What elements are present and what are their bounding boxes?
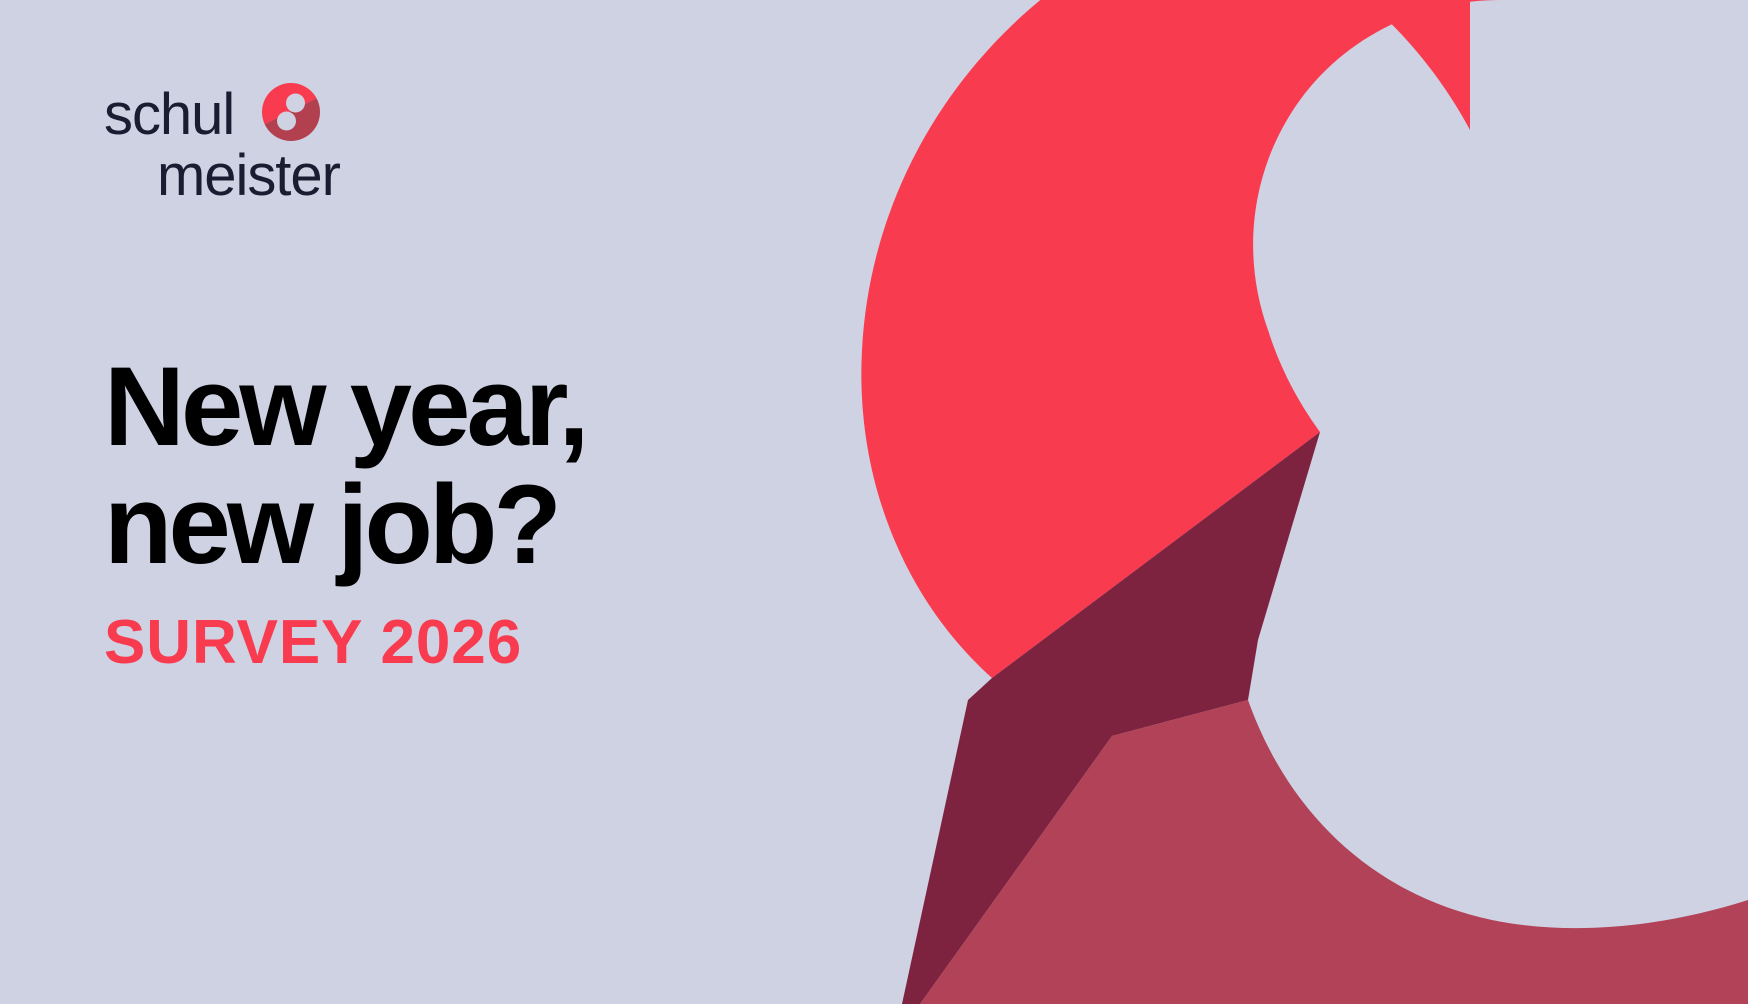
schulmeister-infinity-mark-icon (261, 82, 321, 142)
brand-mark-lower-arc (920, 700, 1748, 1004)
hero-headline-line-1: New year, (104, 348, 864, 466)
brand-mark-middle-band (902, 432, 1320, 1004)
hero-text-block: New year, new job? SURVEY 2026 (104, 348, 864, 676)
slide-canvas: schul meister (0, 0, 1748, 1004)
brand-mark-upper-arc-group (861, 0, 1748, 678)
brand-wordmark: schul meister (104, 86, 384, 206)
brand-wordmark-line-1: schul (104, 86, 384, 144)
brand-logo[interactable]: schul meister (104, 86, 384, 206)
hero-headline-line-2: new job? (104, 466, 864, 584)
hero-subtitle: SURVEY 2026 (104, 610, 864, 676)
brand-mark-upper-body (861, 0, 1748, 678)
brand-wordmark-line-2: meister (157, 147, 384, 205)
brand-mark-upper-arc (1042, 0, 1470, 130)
